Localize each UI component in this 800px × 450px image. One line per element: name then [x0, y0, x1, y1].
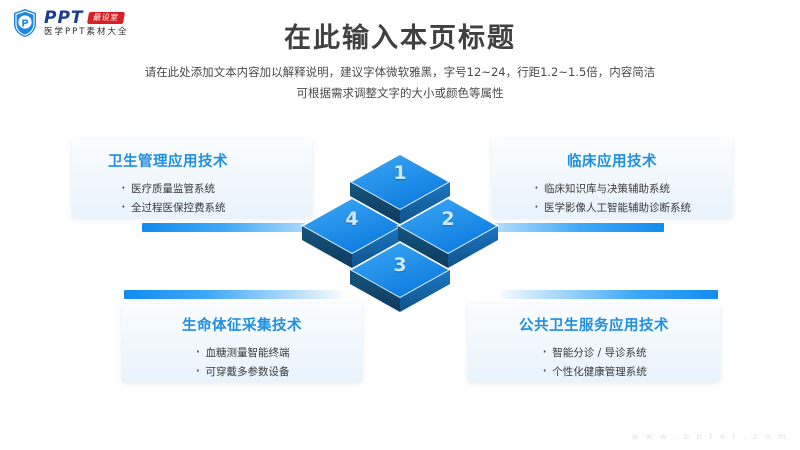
list-item: 全过程医保控费系统 [120, 199, 226, 218]
panel-top-right-heading: 临床应用技术 [492, 150, 732, 171]
panel-bottom-right[interactable]: 公共卫生服务应用技术 智能分诊 / 导诊系统 个性化健康管理系统 [468, 304, 720, 382]
panel-top-left-list: 医疗质量监管系统 全过程医保控费系统 [120, 180, 226, 218]
list-item: 血糖测量智能终端 [195, 344, 290, 363]
panel-top-right-list: 临床知识库与决策辅助系统 医学影像人工智能辅助诊断系统 [533, 180, 691, 218]
panel-bottom-right-connector-bar [500, 290, 718, 299]
list-item: 个性化健康管理系统 [541, 363, 647, 382]
panel-top-right[interactable]: 临床应用技术 临床知识库与决策辅助系统 医学影像人工智能辅助诊断系统 [492, 140, 732, 218]
list-item: 智能分诊 / 导诊系统 [541, 344, 647, 363]
panel-bottom-left-list: 血糖测量智能终端 可穿戴多参数设备 [195, 344, 290, 382]
page-title: 在此输入本页标题 [0, 16, 800, 55]
site-watermark: w w w . p p t e r . c o m [632, 432, 788, 441]
panel-bottom-left-heading: 生命体征采集技术 [122, 314, 362, 335]
page-subtitle: 请在此处添加文本内容加以解释说明，建议字体微软雅黑，字号12~24，行距1.2~… [0, 62, 800, 104]
panel-bottom-left[interactable]: 生命体征采集技术 血糖测量智能终端 可穿戴多参数设备 [122, 304, 362, 382]
slide-canvas: P PPT 最设室 医学PPT素材大全 在此输入本页标题 请在此处添加文本内容加… [0, 0, 800, 450]
list-item: 医疗质量监管系统 [120, 180, 226, 199]
panel-bottom-right-heading: 公共卫生服务应用技术 [468, 314, 720, 335]
panel-top-left-heading: 卫生管理应用技术 [108, 150, 312, 171]
list-item: 医学影像人工智能辅助诊断系统 [533, 199, 691, 218]
panel-top-left[interactable]: 卫生管理应用技术 医疗质量监管系统 全过程医保控费系统 [72, 140, 312, 218]
subtitle-line-1: 请在此处添加文本内容加以解释说明，建议字体微软雅黑，字号12~24，行距1.2~… [0, 62, 800, 83]
subtitle-line-2: 可根据需求调整文字的大小或颜色等属性 [0, 83, 800, 104]
panel-bottom-right-list: 智能分诊 / 导诊系统 个性化健康管理系统 [541, 344, 647, 382]
diamond-cube-cluster: 1 4 [300, 152, 500, 310]
list-item: 可穿戴多参数设备 [195, 363, 290, 382]
cube-block-1-label: 1 [348, 162, 452, 184]
list-item: 临床知识库与决策辅助系统 [533, 180, 691, 199]
cube-block-1[interactable]: 1 [348, 152, 452, 236]
